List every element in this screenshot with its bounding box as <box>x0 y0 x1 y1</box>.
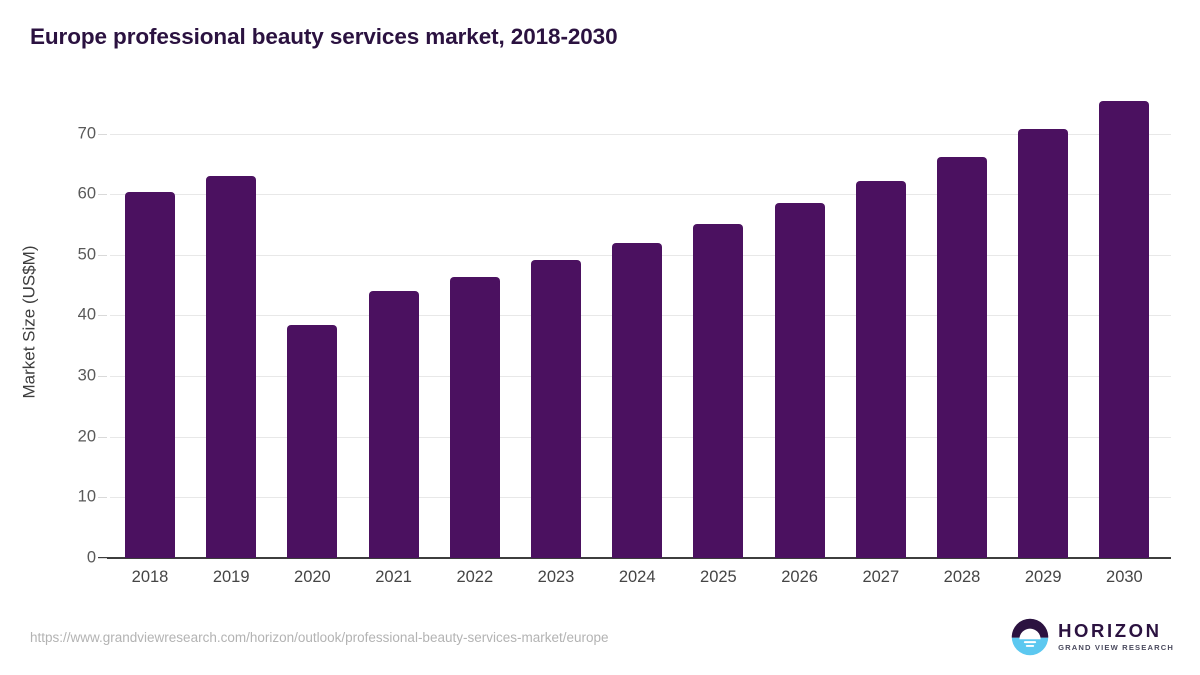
y-axis-tick <box>98 134 107 135</box>
bar-2022[interactable] <box>450 277 500 558</box>
y-axis-tick-label: 0 <box>87 549 96 568</box>
y-axis-tick <box>98 376 107 377</box>
y-axis-tick <box>98 558 107 559</box>
bar-2025[interactable] <box>693 224 743 558</box>
bar-series <box>110 85 1171 558</box>
bar-2021[interactable] <box>369 291 419 558</box>
y-axis-tick-label: 70 <box>78 124 96 143</box>
brand-name: HORIZON <box>1058 622 1174 641</box>
x-axis-tick-label: 2030 <box>1084 568 1165 587</box>
y-axis-title-text: Market Size (US$M) <box>20 245 40 398</box>
x-axis-tick-label: 2024 <box>597 568 678 587</box>
bar-2018[interactable] <box>125 192 175 558</box>
y-axis-tick-label: 50 <box>78 245 96 264</box>
y-axis-tick-label: 20 <box>78 427 96 446</box>
x-axis-tick-label: 2020 <box>272 568 353 587</box>
y-axis-tick <box>98 315 107 316</box>
x-axis-tick-label: 2018 <box>110 568 191 587</box>
x-axis-tick-labels: 2018201920202021202220232024202520262027… <box>110 568 1171 598</box>
x-axis-tick-label: 2021 <box>353 568 434 587</box>
y-axis-title: Market Size (US$M) <box>18 85 42 558</box>
bar-2026[interactable] <box>775 203 825 558</box>
chart-card: Europe professional beauty services mark… <box>0 0 1200 675</box>
bar-2028[interactable] <box>937 157 987 558</box>
x-axis-tick-label: 2025 <box>678 568 759 587</box>
brand-logo-text: HORIZON GRAND VIEW RESEARCH <box>1058 622 1174 651</box>
y-axis-tick-label: 30 <box>78 367 96 386</box>
x-axis-tick-label: 2028 <box>922 568 1003 587</box>
bar-2019[interactable] <box>206 176 256 558</box>
horizon-sun-circle-icon <box>1011 618 1049 656</box>
x-axis-tick-label: 2027 <box>840 568 921 587</box>
x-axis-tick-label: 2019 <box>191 568 272 587</box>
bar-2030[interactable] <box>1099 101 1149 558</box>
bar-2020[interactable] <box>287 325 337 558</box>
bar-2024[interactable] <box>612 243 662 558</box>
x-axis-tick-label: 2023 <box>516 568 597 587</box>
y-axis-tick <box>98 255 107 256</box>
y-axis-tick-label: 60 <box>78 185 96 204</box>
y-axis-tick-labels: 010203040506070 <box>60 85 96 558</box>
bar-2027[interactable] <box>856 181 906 558</box>
y-axis-tick <box>98 437 107 438</box>
x-axis-tick-label: 2029 <box>1003 568 1084 587</box>
x-axis-tick-label: 2022 <box>434 568 515 587</box>
y-axis-tick <box>98 497 107 498</box>
bar-2029[interactable] <box>1018 129 1068 558</box>
bar-2023[interactable] <box>531 260 581 558</box>
y-axis-tick-label: 10 <box>78 488 96 507</box>
brand-logo: HORIZON GRAND VIEW RESEARCH <box>1011 618 1174 656</box>
source-url[interactable]: https://www.grandviewresearch.com/horizo… <box>30 630 609 645</box>
chart-plot: Market Size (US$M) 010203040506070 20182… <box>0 0 1200 675</box>
x-axis-tick-label: 2026 <box>759 568 840 587</box>
brand-tagline: GRAND VIEW RESEARCH <box>1058 644 1174 652</box>
y-axis-tick <box>98 194 107 195</box>
y-axis-tick-label: 40 <box>78 306 96 325</box>
